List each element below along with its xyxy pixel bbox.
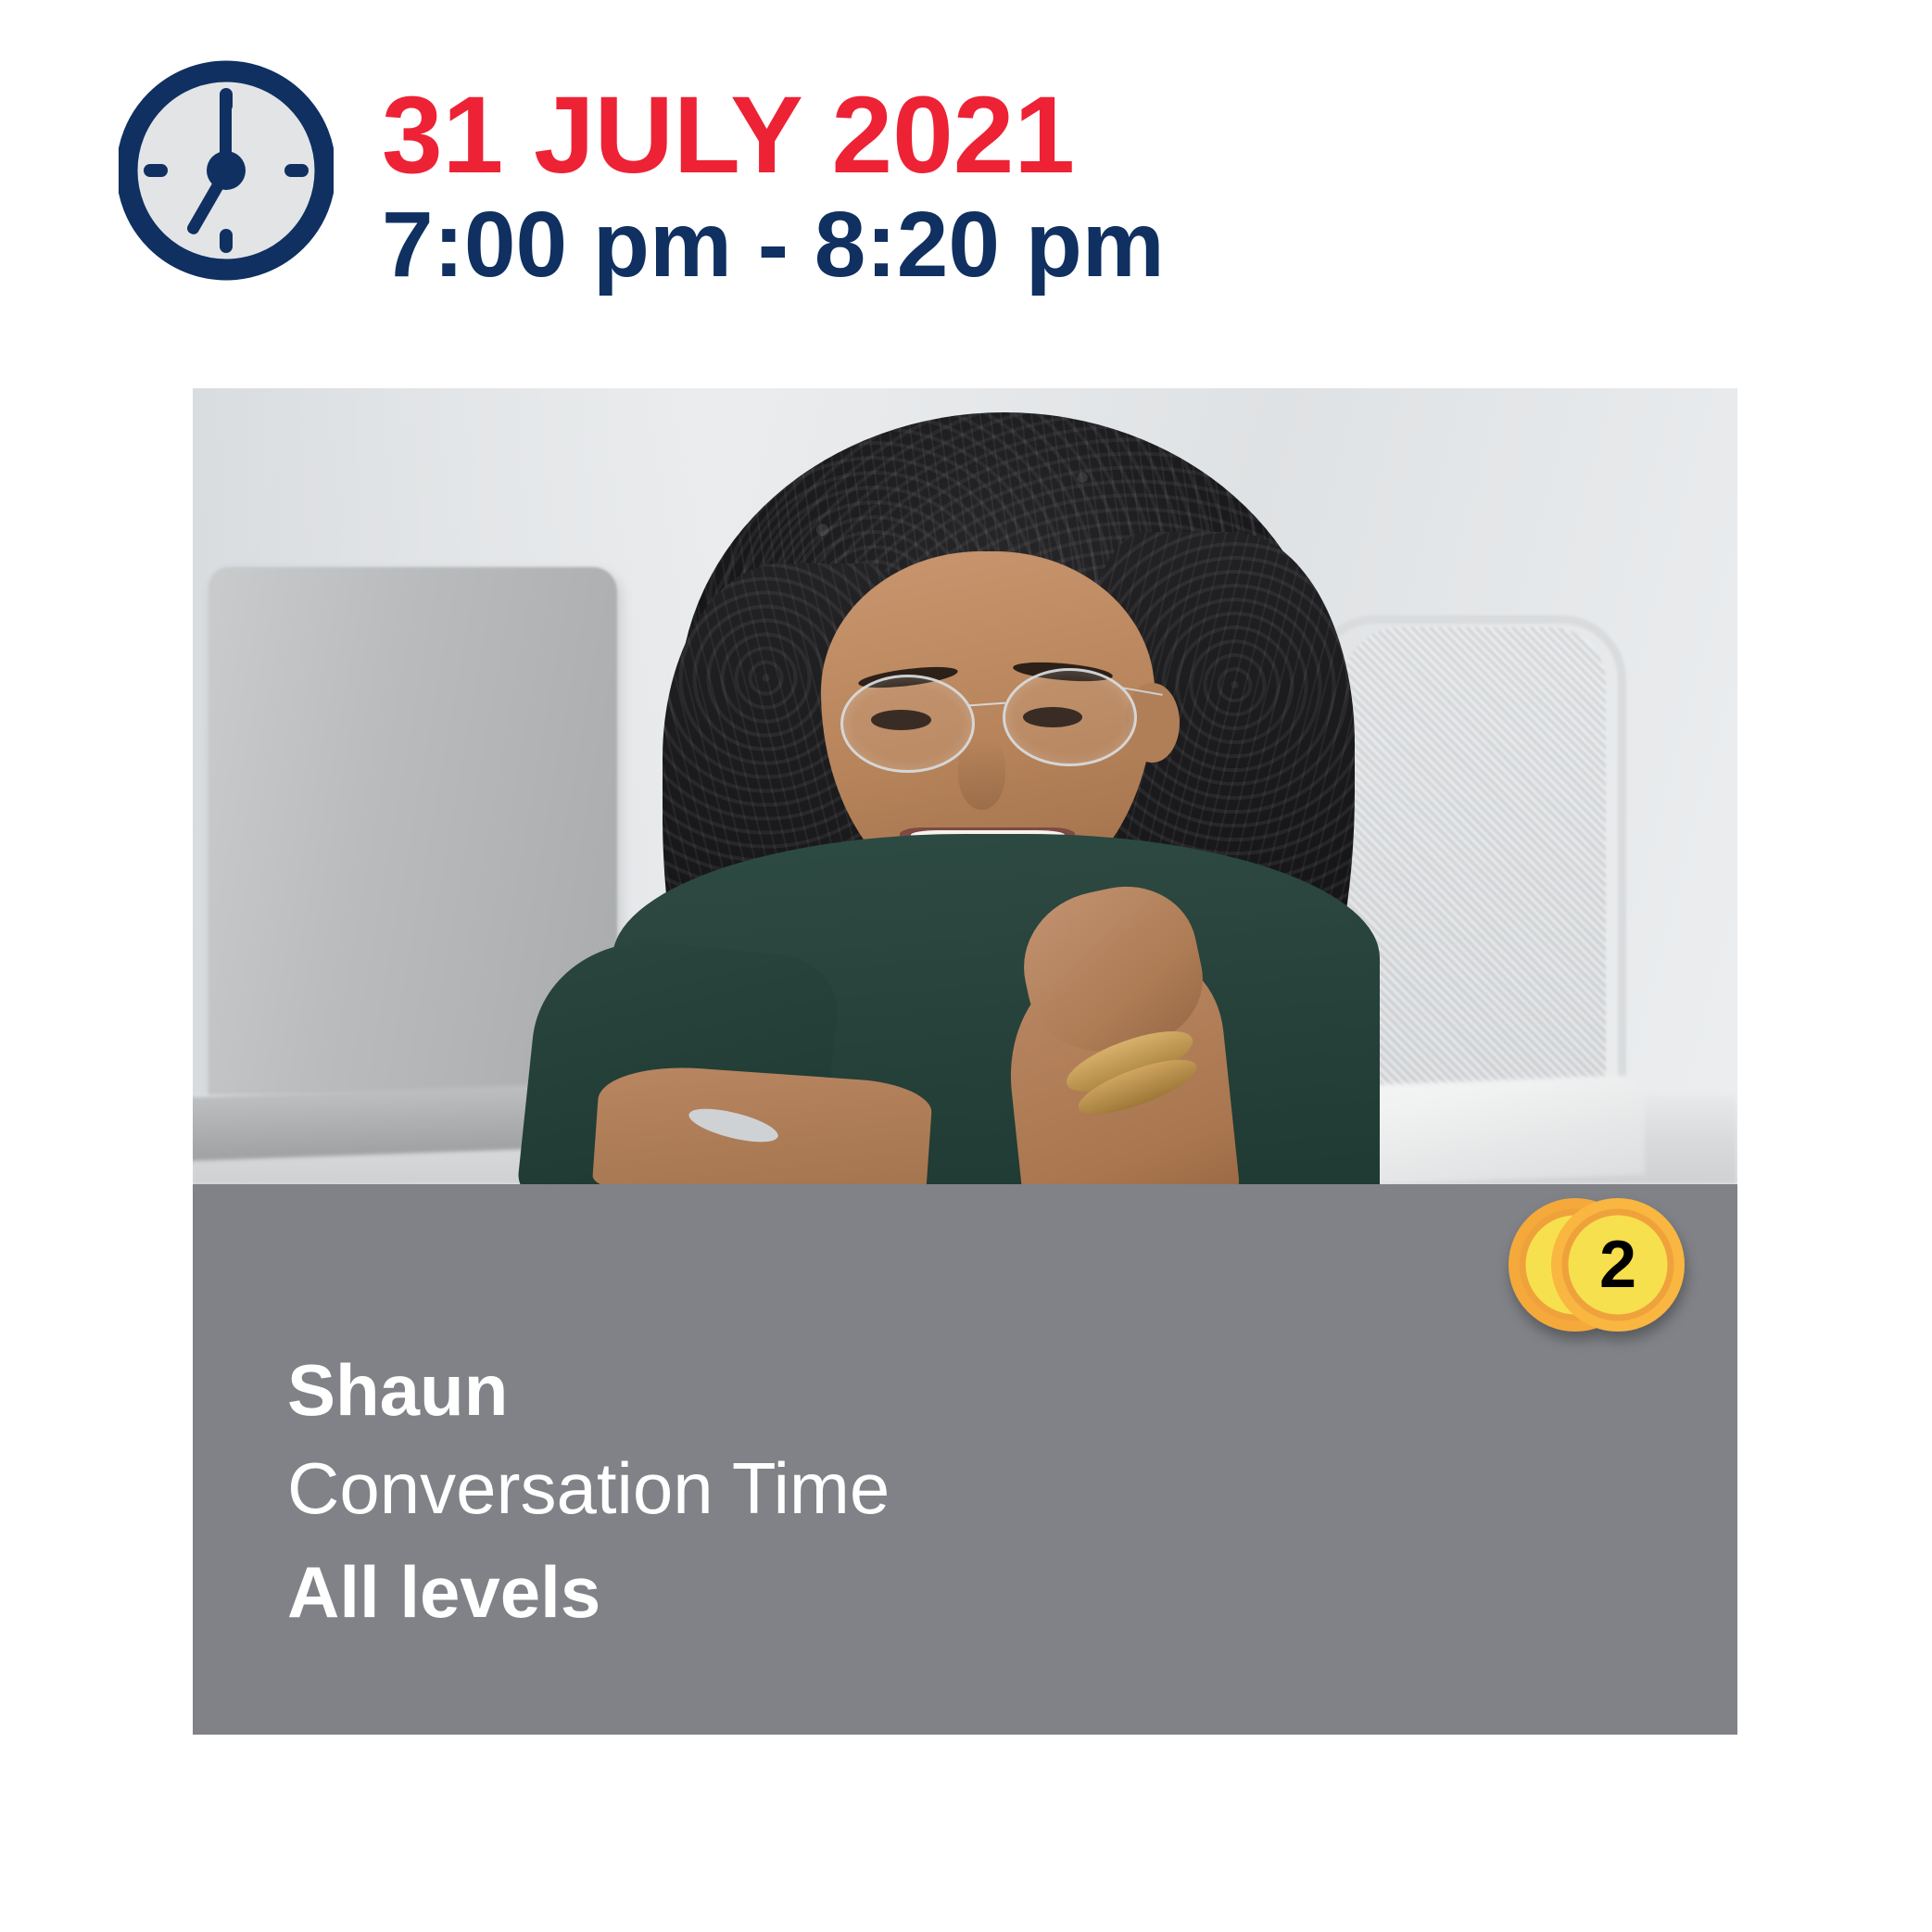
class-title: Conversation Time — [287, 1436, 1399, 1540]
event-info-text: Shaun Conversation Time All levels — [287, 1344, 1399, 1644]
event-info-band: Shaun Conversation Time All levels — [193, 1184, 1737, 1735]
person-figure — [579, 388, 1413, 1184]
clock-icon — [119, 54, 334, 287]
eyeglasses-left-lens — [840, 675, 975, 773]
event-card[interactable]: Shaun Conversation Time All levels — [193, 388, 1737, 1735]
host-name: Shaun — [287, 1344, 1399, 1436]
event-time-range: 7:00 pm - 8:20 pm — [382, 193, 1772, 297]
eyeglasses-right-lens — [1003, 668, 1137, 766]
event-datetime-block: 31 JULY 2021 7:00 pm - 8:20 pm — [382, 82, 1772, 297]
credit-coins-badge[interactable]: 2 — [1490, 1186, 1703, 1362]
class-level: All levels — [287, 1540, 1399, 1644]
event-date: 31 JULY 2021 — [382, 82, 1772, 189]
nose — [958, 739, 1004, 810]
header: 31 JULY 2021 7:00 pm - 8:20 pm — [0, 0, 1932, 388]
credit-count: 2 — [1599, 1228, 1636, 1302]
event-photo — [193, 388, 1737, 1184]
